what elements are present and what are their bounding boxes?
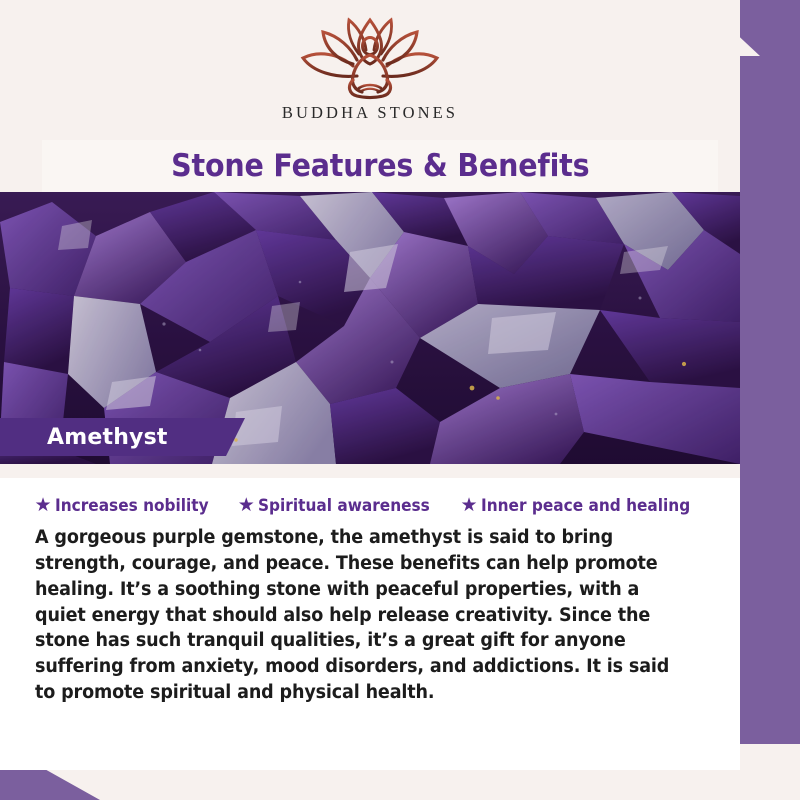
- feature-label: Increases nobility: [55, 496, 209, 515]
- lotus-meditation-icon: [295, 14, 445, 102]
- photo-divider-strip: [0, 464, 740, 478]
- body-panel: ★ Increases nobility ★ Spiritual awarene…: [0, 478, 740, 770]
- stone-name: Amethyst: [47, 425, 168, 450]
- amethyst-crystal-cluster-photo: Amethyst: [0, 192, 740, 464]
- stone-name-banner: Amethyst: [0, 418, 245, 456]
- infographic-canvas: BUDDHA STONES Stone Features & Benefits: [0, 0, 800, 800]
- brand-name: BUDDHA STONES: [282, 103, 458, 123]
- feature-label: Spiritual awareness: [258, 496, 430, 515]
- star-icon: ★: [461, 496, 478, 515]
- feature-item: ★ Inner peace and healing: [461, 496, 706, 515]
- star-icon: ★: [238, 496, 255, 515]
- title-band: Stone Features & Benefits: [42, 140, 718, 192]
- feature-item: ★ Spiritual awareness: [238, 496, 443, 515]
- brand-header: BUDDHA STONES: [0, 0, 740, 140]
- stone-description: A gorgeous purple gemstone, the amethyst…: [8, 525, 707, 706]
- feature-label: Inner peace and healing: [481, 496, 690, 515]
- star-icon: ★: [34, 496, 51, 515]
- content-card: BUDDHA STONES Stone Features & Benefits: [0, 0, 740, 770]
- features-list: ★ Increases nobility ★ Spiritual awarene…: [8, 494, 732, 525]
- feature-item: ★ Increases nobility: [34, 496, 219, 515]
- page-title: Stone Features & Benefits: [171, 148, 589, 184]
